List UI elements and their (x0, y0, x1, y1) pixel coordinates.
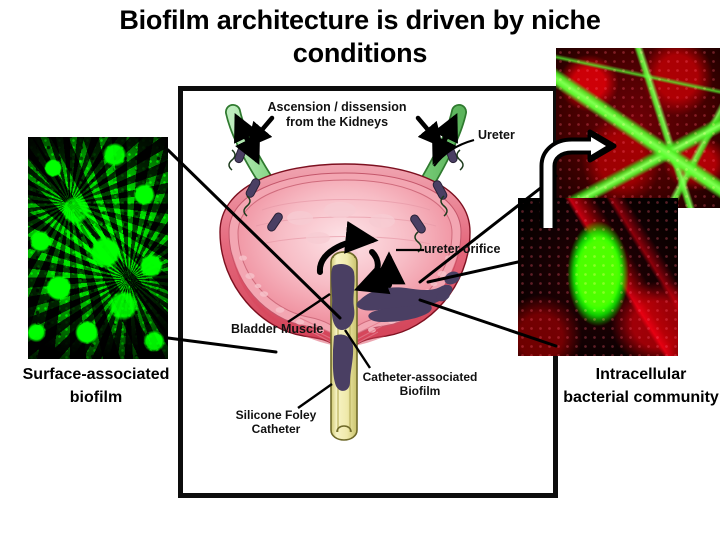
label-silicone-foley-catheter: Silicone Foley Catheter (230, 408, 322, 436)
label-ascension: Ascension / dissension from the Kidneys (262, 100, 412, 130)
label-catheter-associated-biofilm: Catheter-associated Biofilm (355, 370, 485, 398)
surface-associated-biofilm-micrograph (28, 137, 168, 359)
slide-canvas: Biofilm architecture is driven by niche … (0, 0, 720, 540)
caption-surface-associated-biofilm: Surface-associated biofilm (6, 364, 186, 409)
label-ureter: Ureter (478, 128, 515, 143)
caption-intracellular-bacterial-community: Intracellular bacterial community (562, 364, 720, 409)
intracellular-bacterial-community-micrograph (518, 198, 678, 356)
label-bladder-muscle: Bladder Muscle (231, 322, 323, 337)
label-ureter-orifice: ureter orifice (424, 242, 500, 257)
filamentous-bacteria-micrograph (556, 48, 720, 208)
